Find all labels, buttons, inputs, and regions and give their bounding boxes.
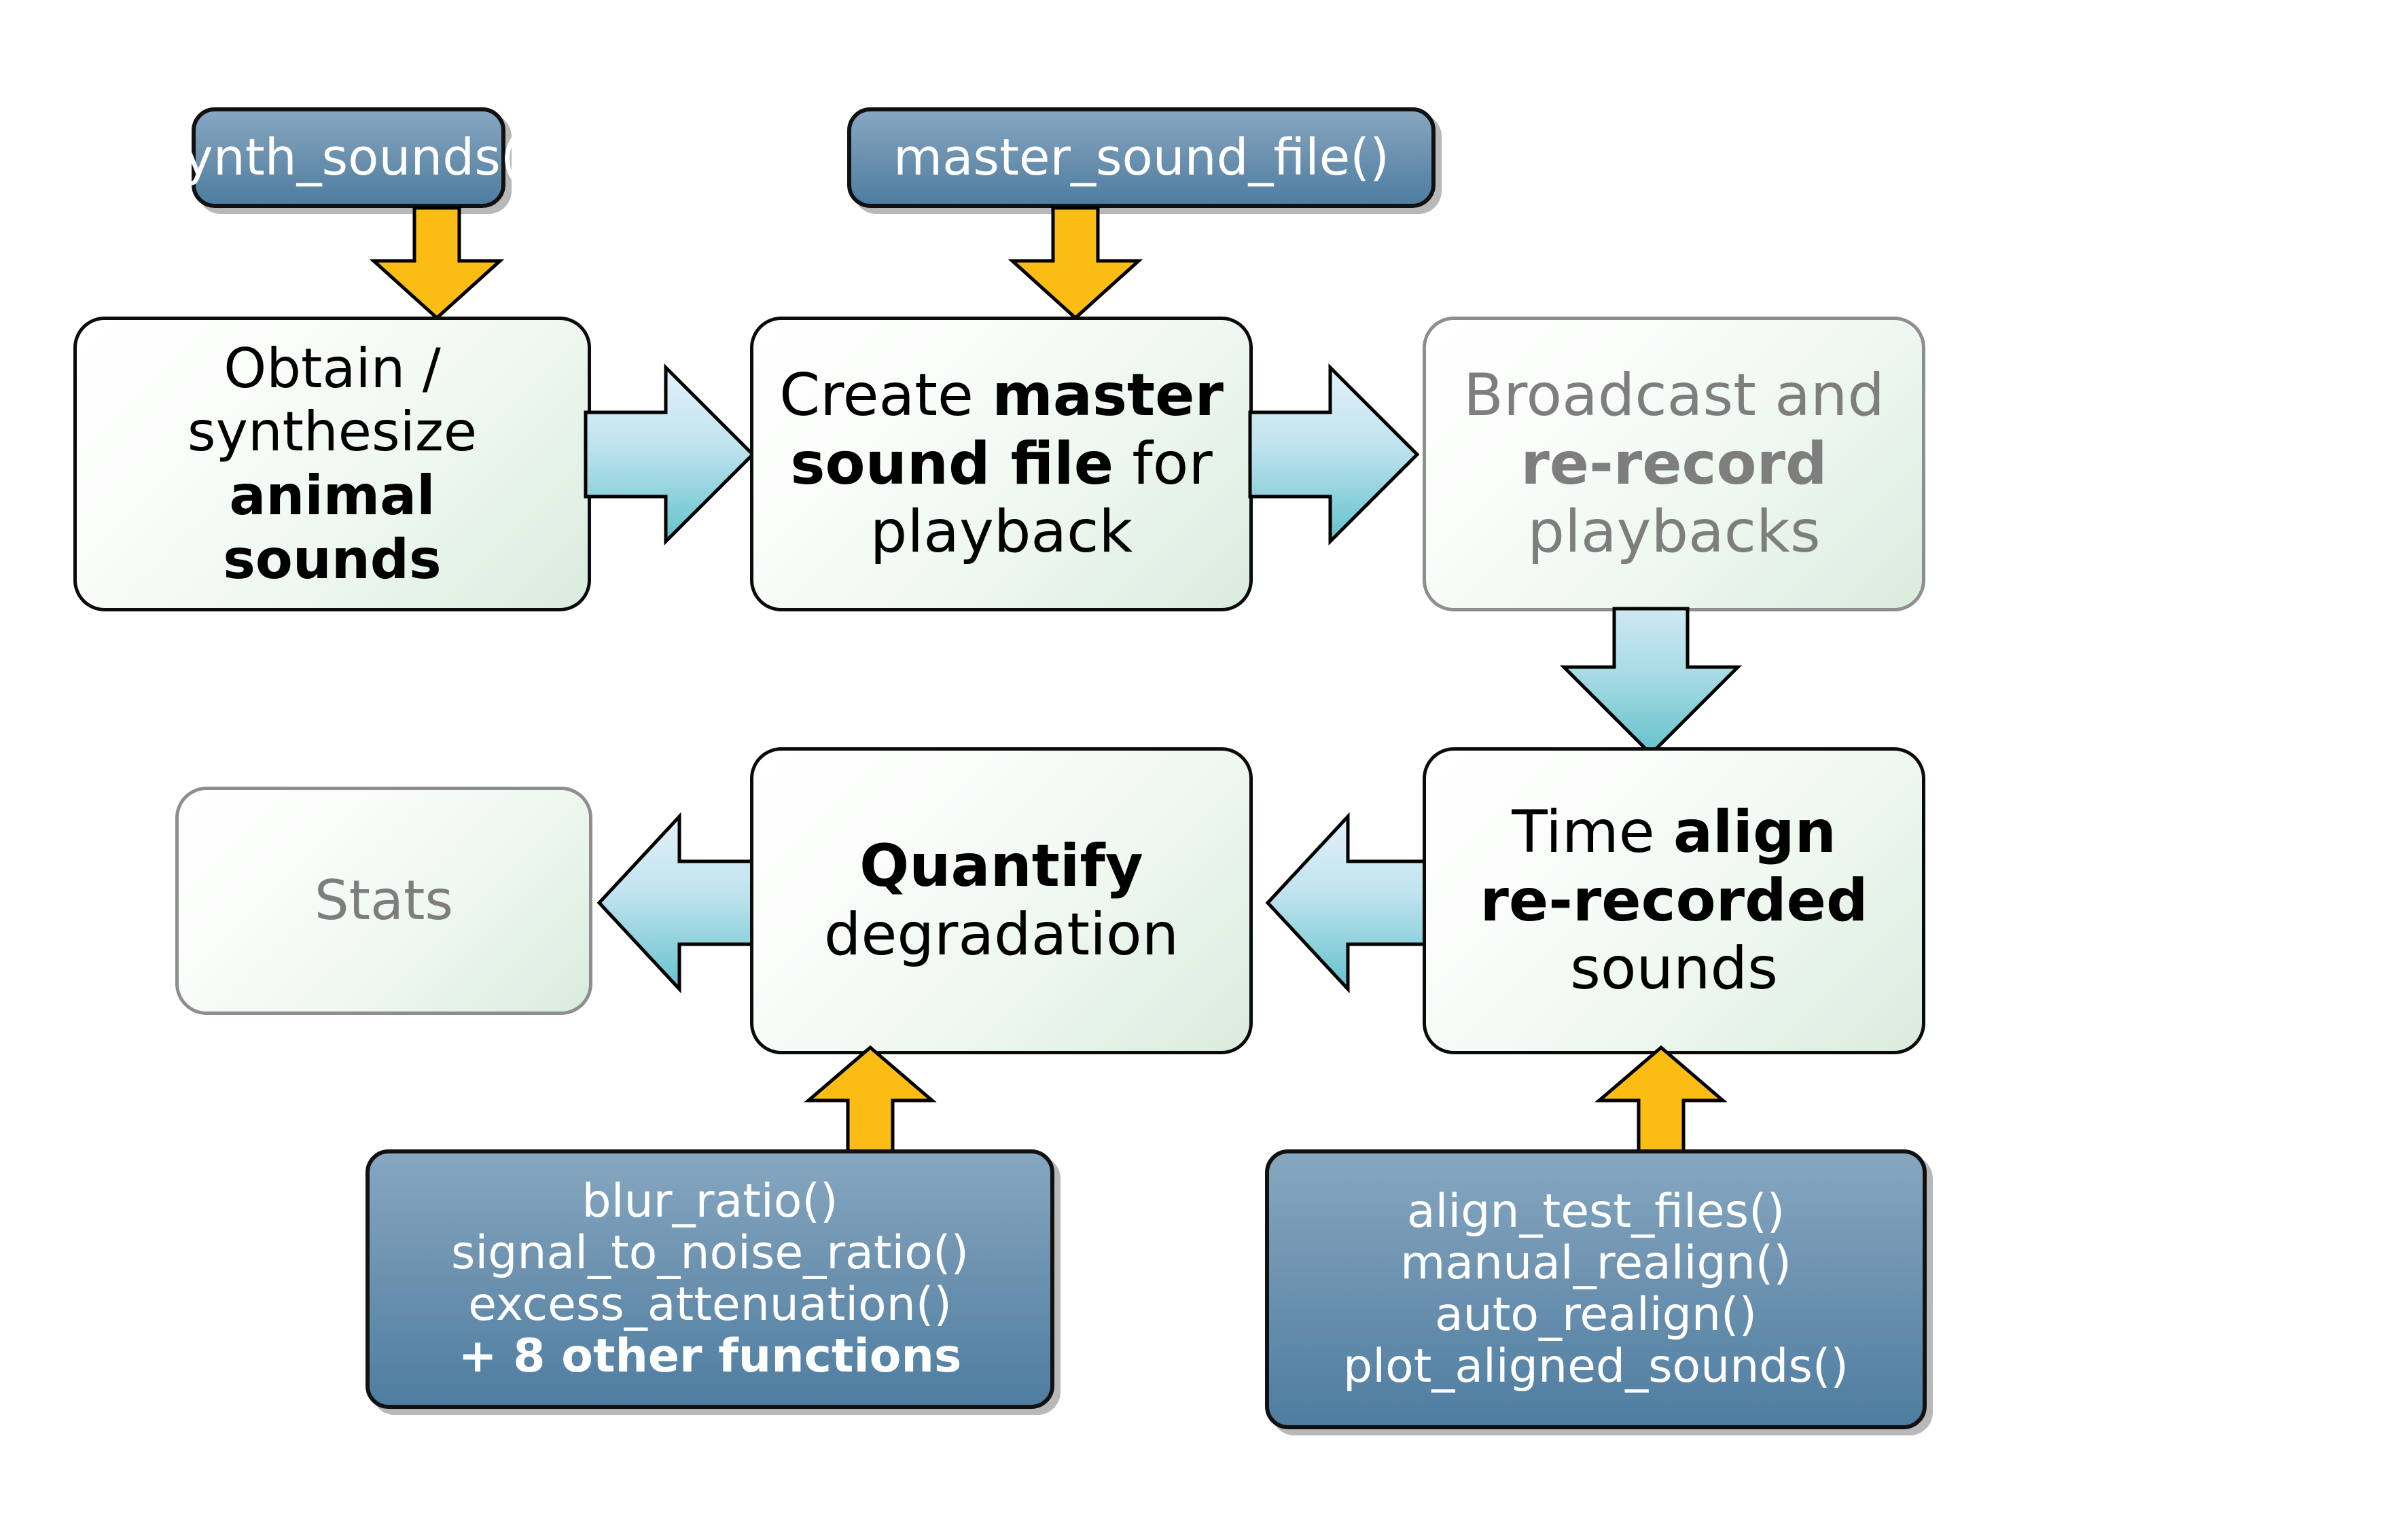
obtain-line-3: animal [229, 464, 435, 527]
quantify-fn-line-2: excess_attenuation() [468, 1278, 952, 1331]
quantify-fn-line-1: signal_to_noise_ratio() [451, 1226, 969, 1280]
create-part-2: master [992, 361, 1224, 429]
time-align-part-2: align [1673, 798, 1836, 866]
function-box-master-sound-file[interactable]: master_sound_file() [847, 107, 1436, 208]
time-align-part-1: Time [1512, 798, 1673, 866]
arrow-align-functions-to-time-align [1598, 1046, 1724, 1153]
function-box-quantify-functions-text: blur_ratio() signal_to_noise_ratio() exc… [442, 1176, 978, 1383]
arrow-quantify-functions-to-quantify [807, 1046, 933, 1153]
process-box-quantify-degradation-text: Quantify degradation [812, 832, 1191, 969]
arrow-synth-sounds-to-obtain [372, 208, 501, 319]
align-fn-line-1: manual_realign() [1400, 1236, 1792, 1290]
arrow-master-sound-file-to-create-master [1011, 208, 1140, 319]
create-part-5: playback [870, 498, 1133, 566]
process-box-stats[interactable]: Stats [175, 787, 592, 1015]
process-box-obtain-synthesize[interactable]: Obtain / synthesize animal sounds [73, 317, 591, 611]
time-align-part-3: re-recorded [1480, 867, 1868, 935]
process-box-obtain-synthesize-text: Obtain / synthesize animal sounds [175, 337, 489, 591]
arrow-create-master-to-broadcast [1250, 363, 1420, 545]
quantify-fn-line-3: + 8 other functions [459, 1329, 962, 1383]
arrow-obtain-to-create-master [586, 363, 755, 545]
arrow-quantify-to-stats [596, 814, 758, 992]
broadcast-line-1: Broadcast and [1463, 361, 1885, 429]
flowchart-canvas: synth_sounds() master_sound_file() Obtai… [0, 0, 2388, 1540]
quantify-line-1: Quantify [859, 832, 1143, 900]
process-box-quantify-degradation[interactable]: Quantify degradation [750, 747, 1253, 1054]
function-box-quantify-functions[interactable]: blur_ratio() signal_to_noise_ratio() exc… [366, 1149, 1054, 1409]
function-box-master-sound-file-label: master_sound_file() [884, 130, 1399, 186]
obtain-line-4: sounds [223, 528, 441, 591]
obtain-line-2: synthesize [188, 400, 477, 463]
time-align-part-4: sounds [1570, 935, 1778, 1003]
arrow-time-align-to-quantify [1265, 814, 1427, 992]
process-box-broadcast-rerecord-text: Broadcast and re-record playbacks [1451, 361, 1897, 567]
process-box-broadcast-rerecord[interactable]: Broadcast and re-record playbacks [1423, 317, 1925, 611]
process-box-stats-label: Stats [302, 869, 465, 933]
quantify-line-2: degradation [824, 901, 1179, 969]
function-box-align-functions-text: align_test_files() manual_realign() auto… [1334, 1186, 1858, 1393]
quantify-fn-line-0: blur_ratio() [582, 1175, 838, 1228]
arrow-broadcast-to-time-align [1560, 609, 1742, 757]
process-box-create-master-sound-file[interactable]: Create master sound file for playback [750, 317, 1253, 611]
obtain-line-1: Obtain / [224, 337, 440, 400]
function-box-align-functions[interactable]: align_test_files() manual_realign() auto… [1265, 1149, 1927, 1429]
process-box-time-align-text: Time align re-recorded sounds [1467, 798, 1880, 1003]
align-fn-line-2: auto_realign() [1435, 1288, 1757, 1342]
function-box-synth-sounds[interactable]: synth_sounds() [192, 107, 505, 208]
create-part-4: for [1113, 430, 1213, 498]
process-box-create-master-text: Create master sound file for playback [767, 361, 1236, 567]
align-fn-line-0: align_test_files() [1407, 1185, 1785, 1238]
create-part-3: sound file [790, 430, 1113, 498]
broadcast-line-3: playbacks [1527, 498, 1820, 566]
broadcast-line-2: re-record [1520, 430, 1827, 498]
create-part-1: Create [779, 361, 992, 429]
process-box-time-align[interactable]: Time align re-recorded sounds [1423, 747, 1925, 1054]
function-box-synth-sounds-label: synth_sounds() [147, 130, 549, 186]
align-fn-line-3: plot_aligned_sounds() [1343, 1340, 1849, 1393]
